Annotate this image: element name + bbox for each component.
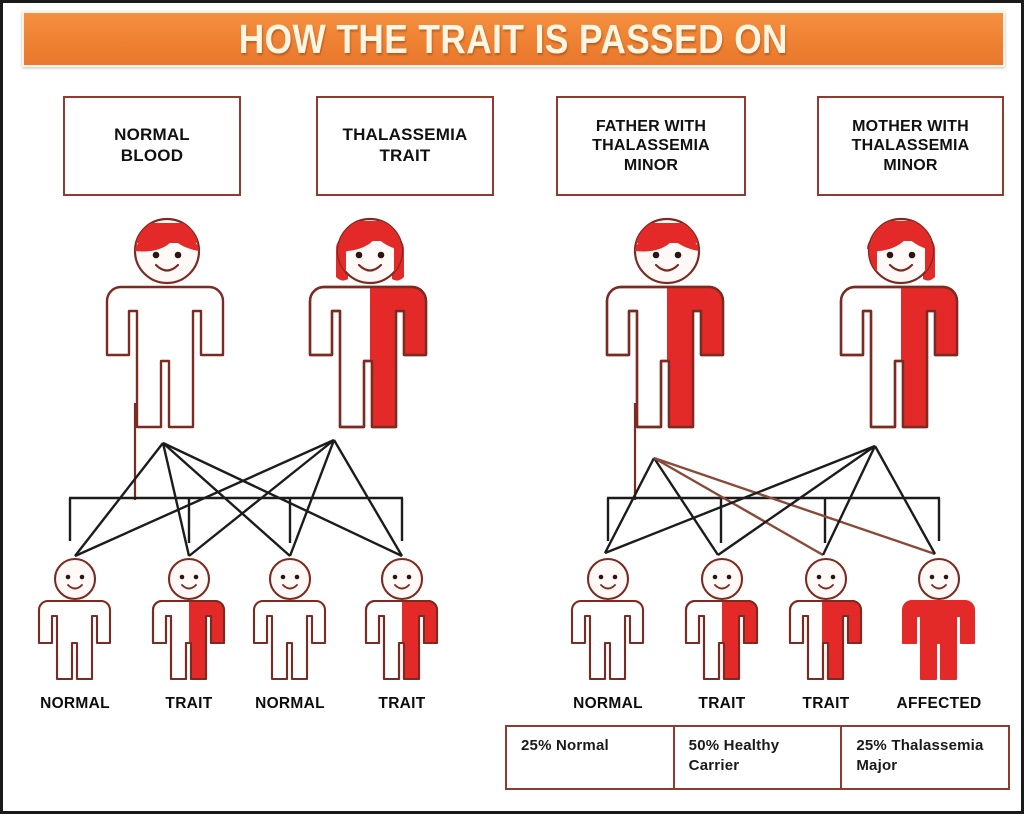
caption-child-r3: TRAIT <box>776 695 876 713</box>
head-circle <box>270 559 310 599</box>
head-circle <box>919 559 959 599</box>
eye-left <box>356 252 363 259</box>
eye-right <box>80 575 85 580</box>
eye-right <box>613 575 618 580</box>
cross-line-r-a1 <box>605 458 654 553</box>
body-outline <box>254 601 325 679</box>
eye-right <box>727 575 732 580</box>
label-box-thalassemia-trait: THALASSEMIA TRAIT <box>316 96 494 196</box>
infographic-page: HOW THE TRAIT IS PASSED ON NORMAL BLOOD … <box>0 0 1024 814</box>
label-text: FATHER WITH THALASSEMIA MINOR <box>592 117 710 176</box>
label-box-father-minor: FATHER WITH THALASSEMIA MINOR <box>556 96 746 196</box>
cross-line-r-a3 <box>654 458 823 555</box>
figure-child-r3 <box>788 557 864 679</box>
outcome-cell-normal: 25% Normal <box>507 727 675 788</box>
cross-line-r-a4 <box>654 458 935 554</box>
eye-left <box>180 575 185 580</box>
figure-father-minor <box>607 215 727 430</box>
cross-line-r-b2 <box>718 446 875 555</box>
eye-right <box>295 575 300 580</box>
head-circle <box>806 559 846 599</box>
cross-line-l-b4 <box>334 440 402 556</box>
eye-right <box>944 575 949 580</box>
eye-right <box>407 575 412 580</box>
head-circle <box>382 559 422 599</box>
head-circle <box>55 559 95 599</box>
body-outline <box>39 601 110 679</box>
body-fill-full-red <box>903 601 974 679</box>
outcome-cell-major: 25% Thalassemia Major <box>842 727 1008 788</box>
figure-child-r1 <box>570 557 646 679</box>
cross-line-l-a4 <box>163 443 402 556</box>
cross-line-r-b4 <box>875 446 935 554</box>
figure-child-l2 <box>151 557 227 679</box>
outcome-text: 25% Thalassemia <box>856 737 983 754</box>
label-box-normal-blood: NORMAL BLOOD <box>63 96 241 196</box>
cross-line-l-a1 <box>75 443 163 556</box>
outcome-table: 25% Normal 50% Healthy Carrier 25% Thala… <box>505 725 1010 790</box>
eye-left <box>153 252 160 259</box>
cross-line-r-b3 <box>823 446 875 555</box>
figure-mother-minor <box>841 215 961 430</box>
body-fill-half-red <box>667 283 727 433</box>
head-circle <box>702 559 742 599</box>
cross-line-r-b1 <box>605 446 875 553</box>
eye-left <box>599 575 604 580</box>
eye-right <box>194 575 199 580</box>
figure-child-r4 <box>901 557 977 679</box>
cross-line-l-a2 <box>163 443 189 556</box>
cross-line-l-b2 <box>189 440 334 556</box>
label-box-mother-minor: MOTHER WITH THALASSEMIA MINOR <box>817 96 1004 196</box>
head-circle <box>588 559 628 599</box>
head-circle <box>169 559 209 599</box>
figure-child-l3 <box>252 557 328 679</box>
eye-left <box>281 575 286 580</box>
figure-child-l1 <box>37 557 113 679</box>
figure-child-l4 <box>364 557 440 679</box>
figure-mother-trait <box>310 215 430 430</box>
eye-right <box>909 252 916 259</box>
caption-child-r4: AFFECTED <box>887 695 991 713</box>
caption-child-l2: TRAIT <box>139 695 239 713</box>
label-text: NORMAL BLOOD <box>114 125 190 166</box>
cross-line-l-b3 <box>290 440 334 556</box>
cross-line-l-b1 <box>75 440 334 556</box>
body-outline <box>572 601 643 679</box>
outcome-text-line2: Carrier <box>689 757 740 774</box>
label-text: THALASSEMIA TRAIT <box>343 125 468 166</box>
outcome-text-line2: Major <box>856 757 897 774</box>
outcome-text: 50% Healthy <box>689 737 780 754</box>
caption-child-r2: TRAIT <box>672 695 772 713</box>
figure-child-r2 <box>684 557 760 679</box>
body-outline <box>107 287 223 427</box>
eye-left <box>713 575 718 580</box>
eye-right <box>378 252 385 259</box>
eye-right <box>675 252 682 259</box>
page-title: HOW THE TRAIT IS PASSED ON <box>239 16 788 63</box>
eye-left <box>653 252 660 259</box>
label-text: MOTHER WITH THALASSEMIA MINOR <box>852 117 970 176</box>
caption-child-l1: NORMAL <box>25 695 125 713</box>
figure-father-normal <box>107 215 227 430</box>
caption-child-l3: NORMAL <box>240 695 340 713</box>
eye-left <box>887 252 894 259</box>
eye-left <box>393 575 398 580</box>
eye-left <box>817 575 822 580</box>
outcome-text: 25% Normal <box>521 737 609 754</box>
eye-right <box>831 575 836 580</box>
eye-left <box>66 575 71 580</box>
eye-left <box>930 575 935 580</box>
eye-right <box>175 252 182 259</box>
title-banner: HOW THE TRAIT IS PASSED ON <box>22 11 1005 67</box>
cross-line-l-a3 <box>163 443 290 556</box>
caption-child-l4: TRAIT <box>352 695 452 713</box>
caption-child-r1: NORMAL <box>558 695 658 713</box>
body-fill-half-red <box>370 283 430 433</box>
outcome-cell-carrier: 50% Healthy Carrier <box>675 727 843 788</box>
body-fill-half-red <box>901 283 961 433</box>
cross-line-r-a2 <box>654 458 718 555</box>
